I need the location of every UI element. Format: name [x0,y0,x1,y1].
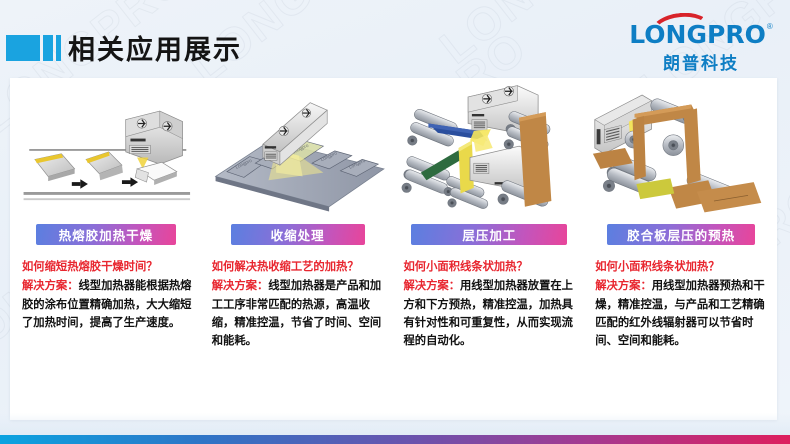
illustration-plywood-preheat [591,78,771,220]
column-copy-4: 如何小面积线条状加热？ 解决方案：用线型加热器预热和干燥，精准控温，与产品和工艺… [591,258,771,350]
illustration-lamination [400,78,580,220]
solution-label-4: 解决方案： [595,279,652,292]
badge-label-1: 热熔胶加热干燥 [36,224,176,245]
question-text-4: 如何小面积线条状加热？ [595,258,767,276]
illustration-hotmelt-drying [16,78,196,220]
application-column-4: 胶合板层压的预热 如何小面积线条状加热？ 解决方案：用线型加热器预热和干燥，精准… [585,78,777,420]
illustration-shrink-processing: Longpro Longpro Longpro Longpro Longpro [208,78,388,220]
registered-icon: ® [767,22,773,31]
application-column-1: 热熔胶加热干燥 如何缩短热熔胶干燥时间？ 解决方案：线型加热器能根据热熔胶的涂布… [10,78,202,420]
application-column-3: 层压加工 如何小面积线条状加热？ 解决方案：用线型加热器放置在上方和下方预热，精… [394,78,586,420]
footer-glow [0,413,790,435]
badge-label-2: 收缩处理 [231,224,365,245]
page-title: 相关应用展示 [68,28,242,67]
badge-label-4: 胶合板层压的预热 [607,224,755,245]
three-bars-icon [6,35,61,61]
solution-label-2: 解决方案： [212,279,269,292]
logo-chinese-name: 朗普科技 [663,49,739,74]
application-columns: 热熔胶加热干燥 如何缩短热熔胶干燥时间？ 解决方案：线型加热器能根据热熔胶的涂布… [10,78,777,420]
column-copy-2: 如何解决热收缩工艺的加热？ 解决方案：线型加热器是产品和加工工序非常匹配的热源，… [208,258,388,350]
column-copy-1: 如何缩短热熔胶干燥时间？ 解决方案：线型加热器能根据热熔胶的涂布位置精确加热，大… [16,258,196,332]
logo-wordmark: LONGPRO ® [629,22,772,47]
red-swoosh-icon [651,13,703,27]
footer-gradient-bar [0,435,790,444]
question-text-3: 如何小面积线条状加热？ [404,258,576,276]
question-text-2: 如何解决热收缩工艺的加热？ [212,258,384,276]
column-copy-3: 如何小面积线条状加热？ 解决方案：用线型加热器放置在上方和下方预热，精准控温，加… [400,258,580,350]
solution-label-1: 解决方案： [22,279,79,292]
solution-label-3: 解决方案： [404,279,461,292]
badge-label-3: 层压加工 [411,224,567,245]
question-text-1: 如何缩短热熔胶干燥时间？ [22,258,192,276]
brand-logo: LONGPRO ® 朗普科技 [626,22,776,74]
application-column-2: Longpro Longpro Longpro Longpro Longpro [202,78,394,420]
